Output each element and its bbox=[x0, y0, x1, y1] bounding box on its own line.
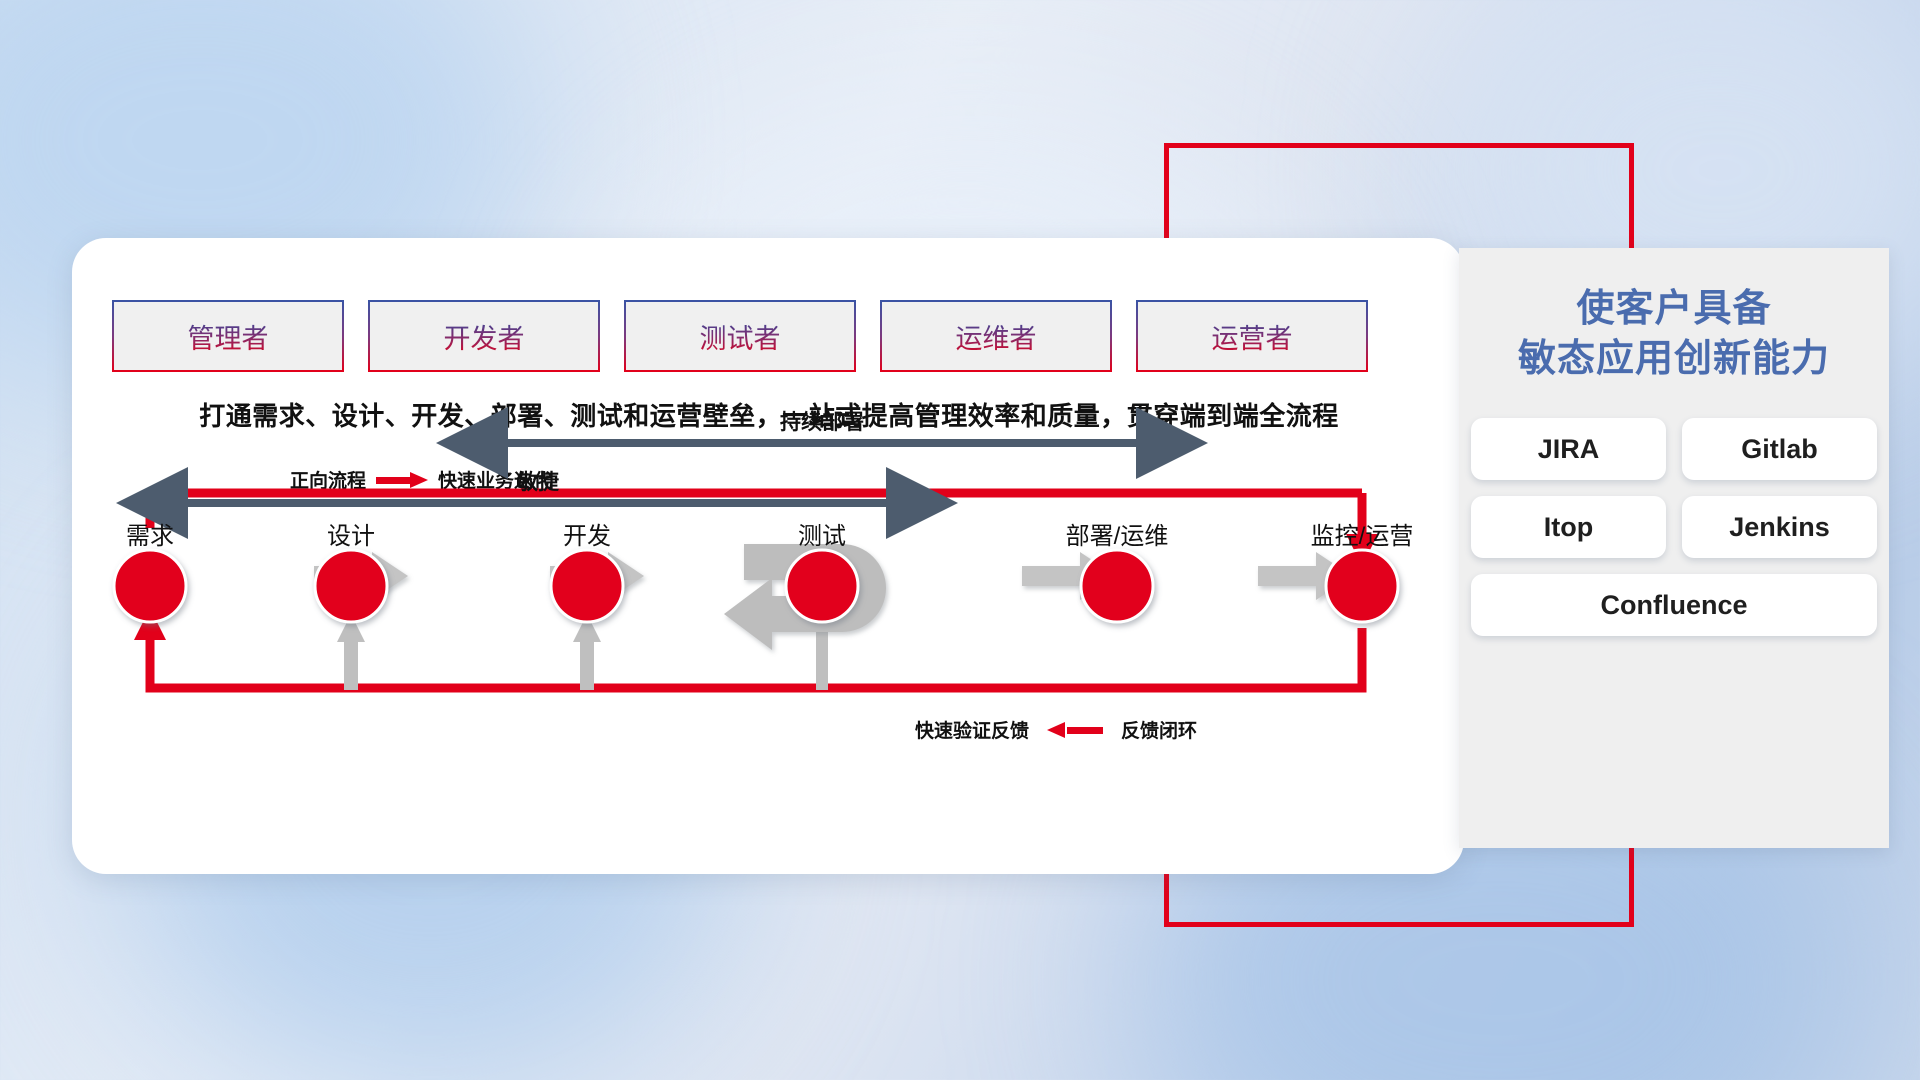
stage-label-design: 设计 bbox=[327, 516, 375, 551]
tool-chip-jira[interactable]: JIRA bbox=[1471, 418, 1666, 480]
stage-label-deploy-ops: 部署/运维 bbox=[1066, 516, 1169, 551]
tool-chip-grid: JIRA Gitlab Itop Jenkins Confluence bbox=[1471, 418, 1877, 636]
right-side-panel: 使客户具备 敏态应用创新能力 JIRA Gitlab Itop Jenkins … bbox=[1459, 248, 1889, 848]
tool-chip-jenkins[interactable]: Jenkins bbox=[1682, 496, 1877, 558]
stage-label-testing: 测试 bbox=[798, 516, 846, 551]
tool-chip-itop[interactable]: Itop bbox=[1471, 496, 1666, 558]
stage-label-development: 开发 bbox=[563, 516, 611, 551]
pipeline-diagram: 持续部署 敏捷 需求 设计 开发 测试 部署/运维 监控/运营 bbox=[72, 238, 1464, 874]
span-caption-agile: 敏捷 bbox=[517, 466, 559, 496]
panel-title: 使客户具备 敏态应用创新能力 bbox=[1459, 248, 1889, 384]
panel-title-line-2: 敏态应用创新能力 bbox=[1459, 334, 1889, 384]
span-caption-continuous-deployment: 持续部署 bbox=[780, 406, 864, 436]
tool-chip-confluence[interactable]: Confluence bbox=[1471, 574, 1877, 636]
stage-label-monitor-ops: 监控/运营 bbox=[1311, 516, 1414, 551]
tool-chip-gitlab[interactable]: Gitlab bbox=[1682, 418, 1877, 480]
pipeline-svg bbox=[72, 238, 1464, 874]
panel-title-line-1: 使客户具备 bbox=[1459, 284, 1889, 334]
stage-label-requirements: 需求 bbox=[126, 516, 174, 551]
main-card: 管理者 开发者 测试者 运维者 运营者 打通需求、设计、开发、部署、测试和运营壁… bbox=[72, 238, 1464, 874]
